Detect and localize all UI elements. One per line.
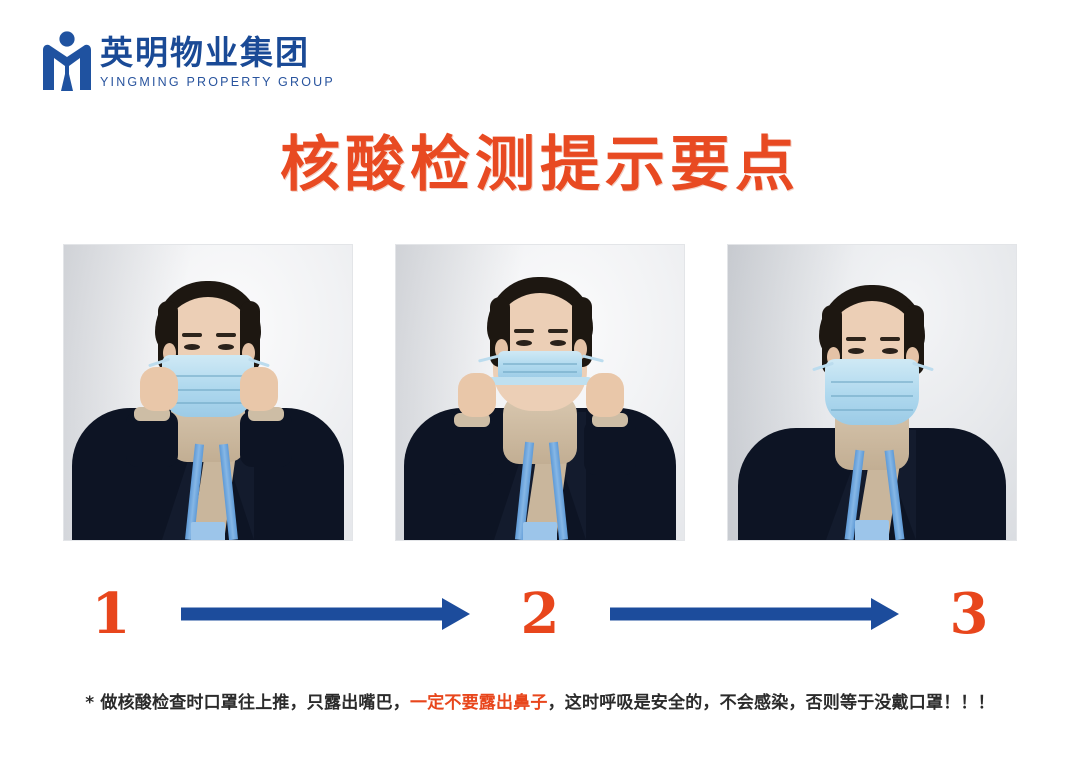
eye-right [218,344,234,350]
eye-left [516,340,532,346]
eye-left [848,348,864,354]
eyebrow-right [216,333,236,337]
photo-step-1 [63,244,353,541]
caption-part-1: * 做核酸检查时口罩往上推，只露出嘴巴， [85,693,410,713]
id-badge [855,520,889,541]
page-title: 核酸检测提示要点 [0,132,1080,198]
step-number-3: 3 [921,586,1017,642]
eyebrow-right [548,329,568,333]
sleeve-right [584,419,636,475]
hand-right [586,373,624,417]
photo-row [63,244,1017,541]
hand-left [140,367,178,411]
right-arrow-icon [610,599,899,629]
eyebrow-left [846,337,866,341]
eyebrow-right [880,337,900,341]
id-badge [523,522,557,541]
photo-step-2 [395,244,685,541]
eye-left [184,344,200,350]
face-mask [498,351,582,379]
person-figure [728,245,1016,540]
photo-step-3 [727,244,1017,541]
eye-right [882,348,898,354]
face-mask [825,359,919,425]
caption: * 做核酸检查时口罩往上推，只露出嘴巴，一定不要露出鼻子，这时呼吸是安全的，不会… [0,692,1080,716]
caption-emphasis: 一定不要露出鼻子 [410,693,548,713]
hand-right [240,367,278,411]
eyebrow-left [182,333,202,337]
step-sequence: 1 2 3 [63,578,1017,650]
person-figure [396,245,684,540]
hand-left [458,373,496,417]
brand-name-en: YINGMING PROPERTY GROUP [100,75,335,90]
step-number-1: 1 [63,586,159,642]
id-badge [191,522,225,541]
mask-folded-edge [488,377,592,385]
brand-logo: 英明物业集团 YINGMING PROPERTY GROUP [40,30,335,92]
person-m-monogram-icon [40,30,94,92]
sleeve-left [446,419,498,475]
right-arrow-icon [181,599,470,629]
caption-part-2: ，这时呼吸是安全的，不会感染，否则等于没戴口罩！！！ [548,693,995,713]
eye-right [550,340,566,346]
step-number-2: 2 [492,586,588,642]
brand-name-cn: 英明物业集团 [100,32,335,73]
person-figure [64,245,352,540]
eyebrow-left [514,329,534,333]
